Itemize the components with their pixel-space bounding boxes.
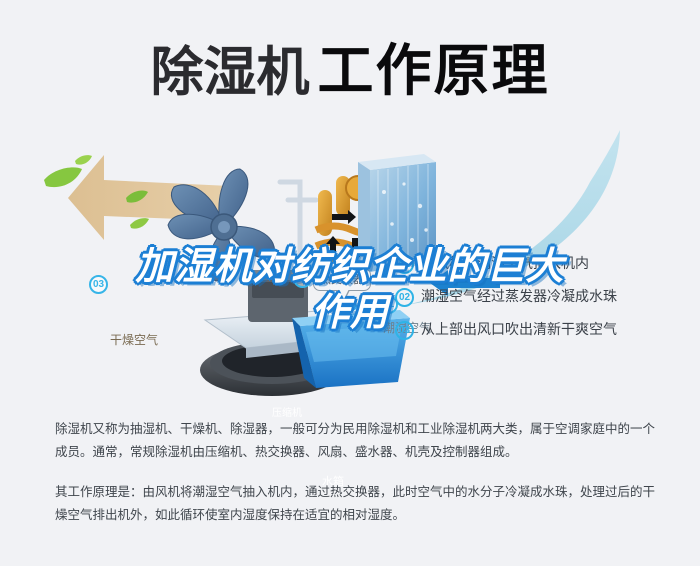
article-image: 除湿机工作原理 [0, 0, 700, 566]
step-text: 潮湿空气经过蒸发器冷凝成水珠 [421, 287, 617, 306]
step-number: 01 [395, 255, 414, 274]
label-dry-air: 干燥空气 [110, 331, 158, 348]
title-part-2: 工作原理 [318, 39, 550, 102]
list-item: 02 潮湿空气经过蒸发器冷凝成水珠 [395, 287, 695, 307]
label-compressor: 压缩机 [272, 404, 302, 419]
body-paragraph-1: 除湿机又称为抽湿机、干燥机、除湿器，一般可分为民用除湿机和工业除湿机两大类，属于… [55, 418, 655, 464]
body-paragraph-2: 其工作原理是：由风机将潮湿空气抽入机内，通过热交换器，此时空气中的水分子冷凝成水… [55, 481, 655, 527]
step-number: 03 [395, 321, 414, 340]
badge-02-heat-exchanger: 02 [293, 269, 312, 288]
step-number: 02 [395, 288, 414, 307]
step-text: 从上部出风口吹出清新干爽空气 [421, 320, 617, 339]
step-text: 由风机将潮湿空气抽入机内 [421, 254, 589, 273]
process-step-list: 01 由风机将潮湿空气抽入机内 02 潮湿空气经过蒸发器冷凝成水珠 03 从上部… [395, 254, 695, 353]
badge-03-dry-air: 03 [89, 275, 108, 294]
title-part-1: 除湿机 [151, 43, 310, 102]
list-item: 01 由风机将潮湿空气抽入机内 [395, 254, 695, 274]
list-item: 03 从上部出风口吹出清新干爽空气 [395, 320, 695, 340]
callout-heat-exchanger: 热交换器 [313, 268, 371, 291]
page-title: 除湿机工作原理 [0, 26, 700, 107]
refrigerant-piping [280, 182, 316, 260]
article-body: 除湿机又称为抽湿机、干燥机、除湿器，一般可分为民用除湿机和工业除湿机两大类，属于… [55, 418, 655, 544]
